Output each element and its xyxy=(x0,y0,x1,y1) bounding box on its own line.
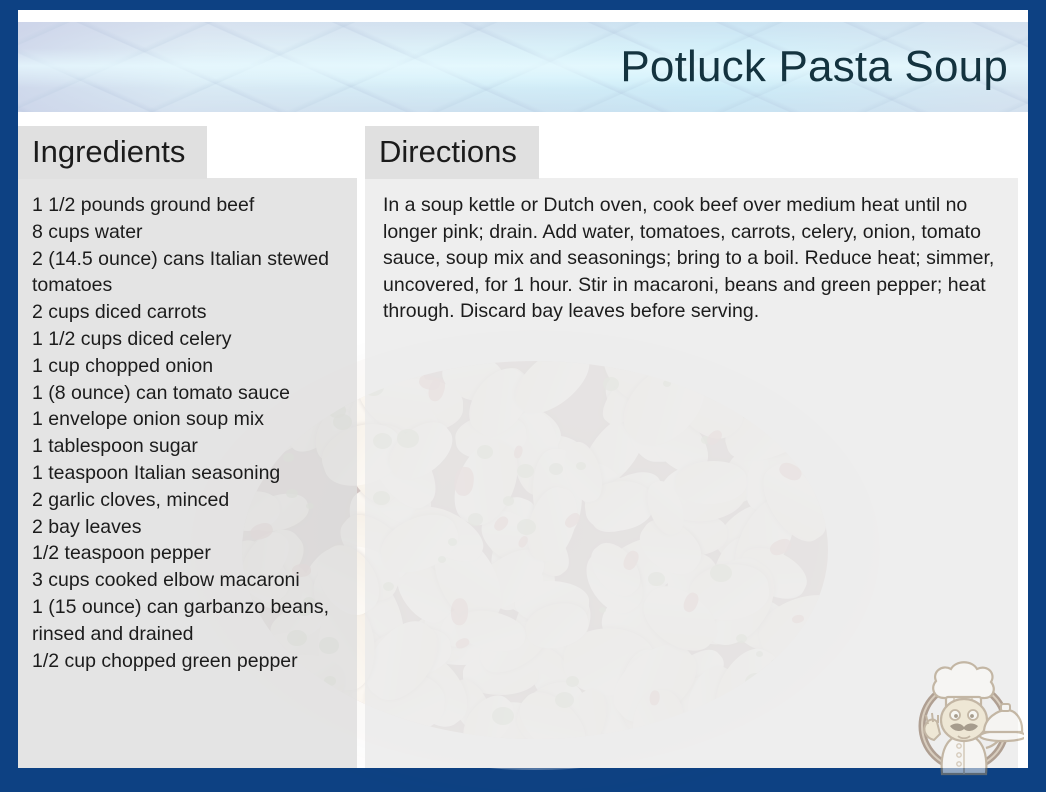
ingredient-item: 8 cups water xyxy=(32,219,341,246)
directions-heading: Directions xyxy=(365,126,539,179)
ingredients-content: 1 1/2 pounds ground beef8 cups water2 (1… xyxy=(32,192,341,674)
ingredient-item: 1 tablespoon sugar xyxy=(32,433,341,460)
ingredient-item: 2 bay leaves xyxy=(32,514,341,541)
ingredient-item: 2 garlic cloves, minced xyxy=(32,487,341,514)
ingredients-panel: 1 1/2 pounds ground beef8 cups water2 (1… xyxy=(18,178,357,768)
ingredient-item: 1/2 cup chopped green pepper xyxy=(32,648,341,675)
recipe-card: Potluck Pasta Soup Ingredients 1 1/2 pou… xyxy=(0,0,1046,792)
ingredient-item: 1 cup chopped onion xyxy=(32,353,341,380)
ingredient-item: 1 (8 ounce) can tomato sauce xyxy=(32,380,341,407)
page-title: Potluck Pasta Soup xyxy=(620,42,1008,92)
ingredient-item: 3 cups cooked elbow macaroni xyxy=(32,567,341,594)
title-banner: Potluck Pasta Soup xyxy=(18,22,1028,112)
ingredient-item: 2 (14.5 ounce) cans Italian stewed tomat… xyxy=(32,246,341,300)
directions-content: In a soup kettle or Dutch oven, cook bee… xyxy=(383,192,1000,325)
directions-text: In a soup kettle or Dutch oven, cook bee… xyxy=(383,192,1000,325)
ingredient-item: 1 1/2 cups diced celery xyxy=(32,326,341,353)
ingredient-item: 1 1/2 pounds ground beef xyxy=(32,192,341,219)
ingredient-item: 1 (15 ounce) can garbanzo beans, rinsed … xyxy=(32,594,341,648)
ingredient-item: 2 cups diced carrots xyxy=(32,299,341,326)
chef-mascot-logo xyxy=(904,652,1024,778)
ingredients-list: 1 1/2 pounds ground beef8 cups water2 (1… xyxy=(32,192,341,674)
ingredients-heading: Ingredients xyxy=(18,126,207,179)
ingredient-item: 1/2 teaspoon pepper xyxy=(32,540,341,567)
ingredient-item: 1 teaspoon Italian seasoning xyxy=(32,460,341,487)
ingredient-item: 1 envelope onion soup mix xyxy=(32,406,341,433)
